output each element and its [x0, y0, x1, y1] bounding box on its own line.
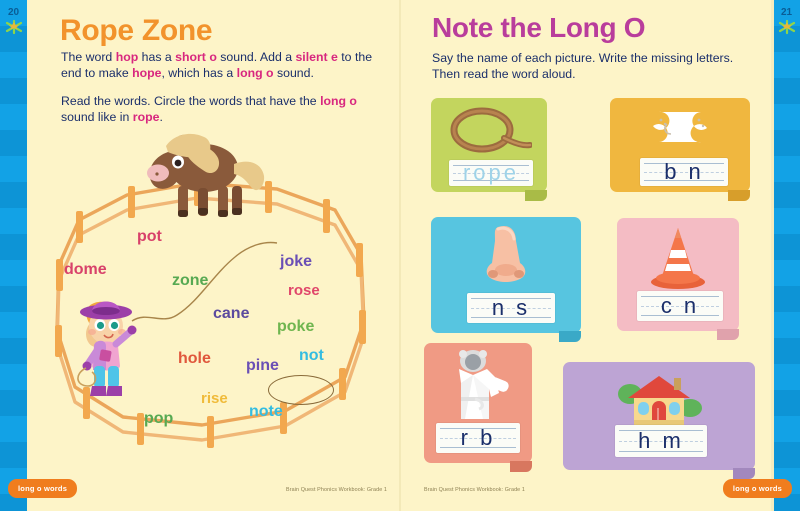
- word-cloud: potdomezonejokerosecanepokeholepinenotri…: [27, 125, 400, 475]
- answer-blank-bone[interactable]: b n: [640, 158, 728, 186]
- word-hope: hope: [132, 66, 161, 80]
- picture-card-rope[interactable]: rope: [431, 98, 547, 192]
- intro-text: has a: [138, 50, 175, 64]
- picture-card-grid: rope b n n s c n r b: [400, 0, 773, 511]
- card-fold-corner: [525, 190, 547, 201]
- word-poke[interactable]: poke: [277, 318, 314, 336]
- answer-text: b n: [664, 159, 704, 185]
- word-joke[interactable]: joke: [280, 253, 312, 271]
- coiled-rope-icon: [431, 104, 547, 160]
- word-rise[interactable]: rise: [201, 390, 228, 407]
- word-rope: rope: [133, 110, 160, 124]
- card-fold-corner: [733, 468, 755, 479]
- word-dome[interactable]: dome: [64, 261, 107, 279]
- answer-text: n s: [492, 295, 530, 321]
- left-instruction-paragraph: Read the words. Circle the words that ha…: [61, 93, 361, 125]
- left-intro-paragraph: The word hop has a short o sound. Add a …: [61, 49, 391, 81]
- answer-blank-rope[interactable]: rope: [449, 160, 533, 186]
- intro-text: sound.: [274, 66, 314, 80]
- word-long-o: long o: [320, 94, 357, 108]
- answer-blank-nose[interactable]: n s: [467, 293, 555, 323]
- word-hole[interactable]: hole: [178, 350, 211, 368]
- word-silent-e: silent e: [295, 50, 337, 64]
- card-fold-corner: [717, 329, 739, 340]
- picture-card-home[interactable]: h m: [563, 362, 755, 470]
- instruction-text: .: [159, 110, 162, 124]
- word-pine[interactable]: pine: [246, 357, 279, 375]
- page-number-left: 20: [8, 8, 19, 18]
- word-long-o: long o: [237, 66, 274, 80]
- traffic-cone-icon: [617, 224, 739, 290]
- workbook-spread: 20 21 Rope Zone The word hop has a short…: [0, 0, 800, 511]
- corral-activity-area: potdomezonejokerosecanepokeholepinenotri…: [27, 125, 400, 475]
- intro-text: sound. Add a: [217, 50, 296, 64]
- house-icon: [563, 368, 755, 430]
- picture-card-bone[interactable]: b n: [610, 98, 750, 192]
- answer-blank-robe[interactable]: r b: [436, 423, 520, 453]
- answer-blank-home[interactable]: h m: [615, 425, 707, 457]
- word-zone[interactable]: zone: [172, 272, 208, 290]
- card-fold-corner: [728, 190, 750, 201]
- footer-tag-right: long o words: [723, 479, 792, 498]
- page-tab-right: 21: [773, 0, 800, 46]
- answer-blank-cone[interactable]: c n: [637, 291, 723, 321]
- word-hop: hop: [116, 50, 139, 64]
- answer-text: c n: [661, 293, 699, 319]
- word-pop[interactable]: pop: [144, 410, 173, 428]
- intro-text: The word: [61, 50, 116, 64]
- bathrobe-icon: [424, 349, 532, 427]
- intro-text: , which has a: [161, 66, 236, 80]
- instruction-text: sound like in: [61, 110, 133, 124]
- word-note[interactable]: note: [249, 403, 283, 421]
- bone-icon: [610, 104, 750, 150]
- card-fold-corner: [559, 331, 581, 342]
- word-rose[interactable]: rose: [288, 282, 320, 299]
- word-not[interactable]: not: [299, 347, 324, 365]
- star-icon: [777, 19, 797, 39]
- picture-card-robe[interactable]: r b: [424, 343, 532, 463]
- word-short-o: short o: [175, 50, 217, 64]
- nose-icon: [431, 223, 581, 287]
- credit-left: Brain Quest Phonics Workbook: Grade 1: [286, 487, 387, 493]
- answer-text: h m: [638, 428, 684, 454]
- page-tab-left: 20: [0, 0, 27, 46]
- word-pot[interactable]: pot: [137, 228, 162, 246]
- star-icon: [4, 19, 24, 39]
- answer-text: rope: [463, 160, 519, 186]
- picture-card-nose[interactable]: n s: [431, 217, 581, 333]
- page-title-left: Rope Zone: [60, 14, 212, 48]
- picture-card-cone[interactable]: c n: [617, 218, 739, 331]
- footer-tag-left: long o words: [8, 479, 77, 498]
- credit-right: Brain Quest Phonics Workbook: Grade 1: [424, 487, 525, 493]
- word-cane[interactable]: cane: [213, 305, 249, 323]
- card-fold-corner: [510, 461, 532, 472]
- answer-text: r b: [461, 425, 496, 451]
- page-number-right: 21: [781, 8, 792, 18]
- instruction-text: Read the words. Circle the words that ha…: [61, 94, 317, 108]
